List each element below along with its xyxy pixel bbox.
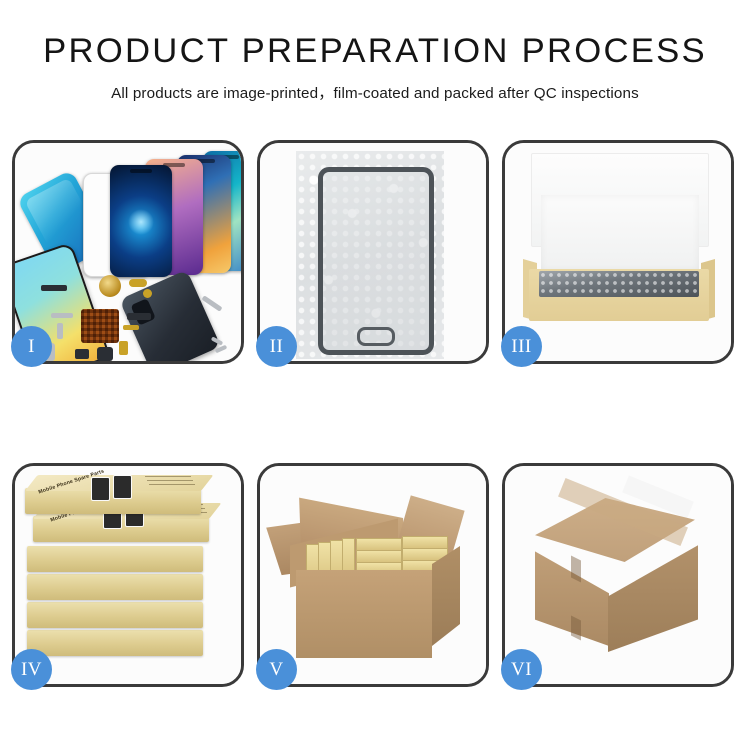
product-preparation-infographic: PRODUCT PREPARATION PROCESS All products… bbox=[0, 0, 750, 750]
step-4-image: Mobile Phone Spare Parts Mobile Phone Sp… bbox=[15, 466, 241, 684]
process-step-3: III bbox=[502, 140, 734, 364]
box-stack: Mobile Phone Spare Parts Mobile Phone Sp… bbox=[23, 482, 235, 672]
step-badge-5: V bbox=[256, 649, 297, 690]
carton-seam-upper bbox=[571, 556, 581, 583]
step-3-image bbox=[505, 143, 731, 361]
carton-front-face bbox=[296, 570, 432, 658]
header: PRODUCT PREPARATION PROCESS All products… bbox=[0, 0, 750, 103]
step-5-image bbox=[260, 466, 486, 684]
step-2-image bbox=[260, 143, 486, 361]
step-badge-3: III bbox=[501, 326, 542, 367]
page-title: PRODUCT PREPARATION PROCESS bbox=[0, 34, 750, 68]
spare-parts-cluster bbox=[15, 143, 241, 361]
page-subtitle: All products are image-printed，film-coat… bbox=[0, 81, 750, 103]
process-step-5: V bbox=[257, 463, 489, 687]
process-step-2: II bbox=[257, 140, 489, 364]
carton-seam-lower bbox=[571, 616, 581, 641]
process-step-6: VI bbox=[502, 463, 734, 687]
wrapped-screen-in-box bbox=[539, 271, 699, 297]
process-step-4: Mobile Phone Spare Parts Mobile Phone Sp… bbox=[12, 463, 244, 687]
foam-padding bbox=[541, 195, 699, 271]
process-step-1: I bbox=[12, 140, 244, 364]
step-1-image bbox=[15, 143, 241, 361]
step-badge-2: II bbox=[256, 326, 297, 367]
process-step-grid: I II III bbox=[12, 140, 738, 687]
step-badge-6: VI bbox=[501, 649, 542, 690]
phone-screen-glass bbox=[318, 167, 434, 355]
step-6-image bbox=[505, 466, 731, 684]
step-badge-1: I bbox=[11, 326, 52, 367]
step-badge-4: IV bbox=[11, 649, 52, 690]
